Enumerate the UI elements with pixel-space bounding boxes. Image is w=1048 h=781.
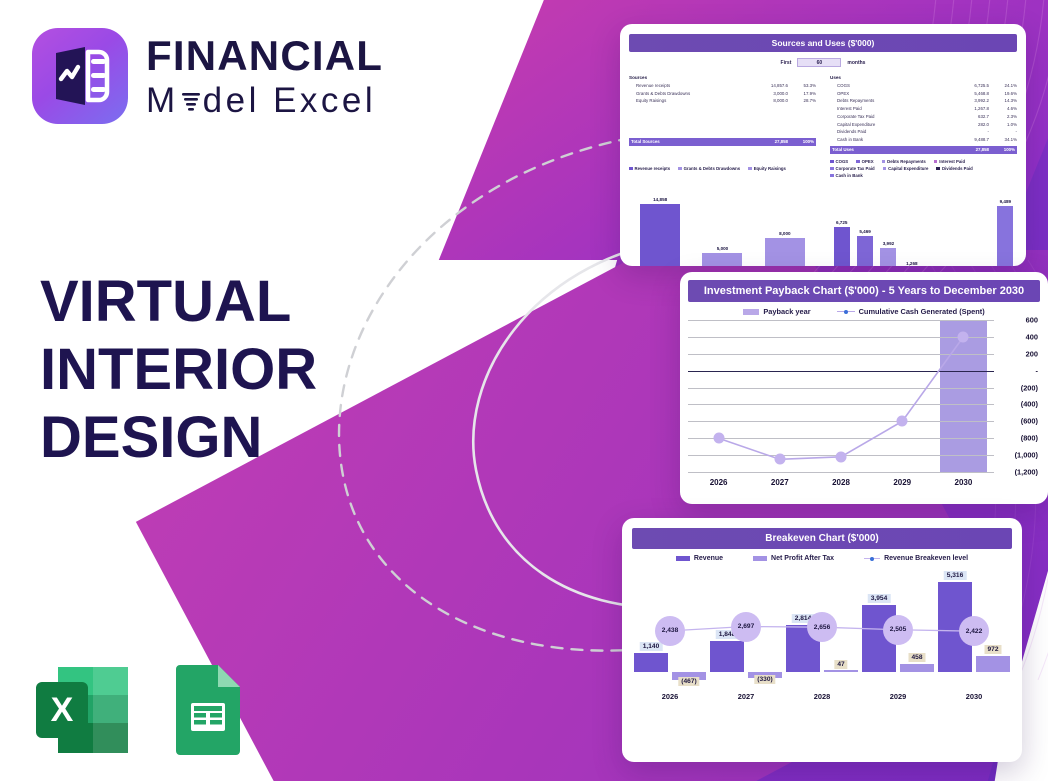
headline-line-2: INTERIOR [40,336,420,404]
uses-total-row: Total Uses 27,858 100% [830,146,1017,154]
legend-swatch-icon [743,309,759,315]
months-suffix-label: months [847,60,865,66]
sources-table-row: Equity Raisings8,000.028.7% [629,97,816,105]
bar [702,253,742,266]
sources-uses-charts: 14,8585,0008,000 6,7255,4693,9921,268633… [629,182,1017,266]
uses-table-row: Cash in Bank9,488.734.1% [830,136,1017,144]
legend-label: Revenue [694,555,723,562]
legend-item: Revenue Breakeven level [864,555,968,562]
bar-column: 0 [974,182,990,266]
card-breakeven: Breakeven Chart ($'000) RevenueNet Profi… [622,518,1022,762]
app-icons-group: X [28,661,246,759]
headline-line-3: DESIGN [40,404,420,472]
legend-label: Cash in Bank [836,173,863,178]
legend-swatch-icon [678,167,682,171]
legend-item: Corporate Tax Paid [830,166,875,171]
bar-column: 6,725 [834,182,850,266]
bar-value-label: 8,000 [779,231,791,236]
bar-column: 14,858 [640,182,680,266]
payback-chart-legend: Payback yearCumulative Cash Generated (S… [688,307,1040,316]
headline-line-1: VIRTUAL [40,268,420,336]
payback-plot-area: 600400200-(200)(400)(600)(800)(1,000)(1,… [688,320,1040,472]
legend-label: OPEX [862,159,874,164]
legend-item: Equity Raisings [748,159,786,178]
bar-value-label: 5,469 [859,229,871,234]
data-point-marker [836,451,847,462]
bar-value-label: 14,858 [653,197,667,202]
sources-total-amount: 27,858 [754,138,788,146]
months-selector-row: First 60 months [629,58,1017,67]
uses-chart-legend: COGSOPEXDebts RepaymentsInterest PaidCor… [830,159,1017,180]
data-point-marker [958,331,969,342]
breakeven-chart-legend: RevenueNet Profit After TaxRevenue Break… [632,555,1012,562]
bar [765,238,805,266]
y-axis-tick-label: 400 [1026,332,1038,341]
sources-bar-chart: 14,8585,0008,000 [629,182,816,266]
uses-table-row: Interest Paid1,267.84.6% [830,105,1017,113]
legend-label: Revenue receipts [635,166,671,171]
sources-total-row: Total Sources 27,858 100% [629,138,816,146]
legend-item: Revenue receipts [629,159,670,178]
legend-swatch-icon [748,167,752,171]
card-investment-payback: Investment Payback Chart ($'000) - 5 Yea… [680,272,1048,504]
sources-table-row: Grants & Debts Drawdowns3,000.017.9% [629,90,816,98]
legend-swatch-icon [882,160,886,164]
data-point-marker [897,416,908,427]
uses-table-row: Corporate Tax Paid632.72.3% [830,113,1017,121]
uses-table-row: COGS6,725.524.1% [830,82,1017,90]
payback-line-series [688,320,994,472]
breakeven-node: 2,422 [959,616,989,646]
legend-label: Corporate Tax Paid [836,166,875,171]
breakeven-node: 2,505 [883,615,913,645]
uses-total-label: Total Uses [830,146,955,154]
x-axis-tick-label: 2030 [933,478,994,487]
bar-value-label: 5,000 [717,246,729,251]
x-axis-tick-label: 2026 [688,478,749,487]
x-axis-tick-label: 2030 [936,692,1012,701]
legend-swatch-icon [753,556,767,561]
legend-item: Debts Repayments [882,159,926,164]
legend-swatch-icon [830,167,834,171]
bar-value-label: 6,725 [836,220,848,225]
poster-canvas: FINANCIAL M del Excel VIRTUAL INTERIOR D… [0,0,1048,781]
google-sheets-icon [166,661,246,759]
legend-swatch-icon [830,160,834,164]
legend-label: Dividends Paid [942,166,973,171]
legend-item: Net Profit After Tax [753,555,834,562]
x-axis-tick-label: 2029 [872,478,933,487]
gridline [688,472,994,473]
sources-uses-tables: Sources Revenue receipts14,857.653.3%Gra… [629,75,1017,154]
brand-title-line1: FINANCIAL [146,35,383,77]
sources-table-header: Sources [629,75,816,80]
legend-item: COGS [830,159,848,164]
bar-column: 9,489 [997,182,1013,266]
breakeven-node: 2,656 [807,612,837,642]
legend-label: Cumulative Cash Generated (Spent) [859,307,985,316]
card-breakeven-title: Breakeven Chart ($'000) [632,528,1012,549]
breakeven-node: 2,697 [731,612,761,642]
y-axis-tick-label: (1,000) [1015,451,1038,460]
sources-table: Sources Revenue receipts14,857.653.3%Gra… [629,75,816,154]
legend-label: Capital Expenditure [888,166,928,171]
financial-model-excel-logo-icon [32,28,128,124]
months-input[interactable]: 60 [797,58,841,67]
svg-text:X: X [51,691,74,729]
brand-title-line2: M del Excel [146,83,383,118]
legend-swatch-icon [629,167,633,171]
legend-item: Grants & Debts Drawdowns [678,159,740,178]
breakeven-x-axis: 20262027202820292030 [632,692,1012,701]
uses-table-row: Capital Expenditure282.01.0% [830,121,1017,129]
bar [857,236,873,266]
legend-label: Grants & Debts Drawdowns [684,166,741,171]
legend-label: Debts Repayments [887,159,926,164]
sources-total-pct: 100% [788,138,816,146]
legend-item: Capital Expenditure [883,166,929,171]
card-payback-title: Investment Payback Chart ($'000) - 5 Yea… [688,280,1040,302]
bar-column: 1,268 [904,182,920,266]
x-axis-tick-label: 2027 [749,478,810,487]
legend-item: Cash in Bank [830,173,863,178]
y-axis-tick-label: 200 [1026,349,1038,358]
card-sources-title: Sources and Uses ($'000) [629,34,1017,52]
y-axis-tick-label: (400) [1021,400,1038,409]
bar-column: 5,000 [702,182,742,266]
legend-label: Payback year [763,307,810,316]
uses-bar-chart: 6,7255,4693,9921,26863328209,489 [830,182,1017,266]
legend-item: Interest Paid [934,159,965,164]
legend-swatch-icon [883,167,887,171]
data-point-marker [774,454,785,465]
y-axis-tick-label: (600) [1021,417,1038,426]
y-axis-tick-label: (1,200) [1015,468,1038,477]
legend-line-icon [837,311,855,312]
legend-label: Net Profit After Tax [771,555,834,562]
bar [640,204,680,266]
x-axis-tick-label: 2026 [632,692,708,701]
x-axis-tick-label: 2029 [860,692,936,701]
uses-table-row: Dividends Paid-- [830,128,1017,136]
legend-swatch-icon [934,160,938,164]
sources-uses-legends: Revenue receiptsGrants & Debts Drawdowns… [629,159,1017,180]
payback-y-axis: 600400200-(200)(400)(600)(800)(1,000)(1,… [994,320,1040,472]
sources-chart-legend: Revenue receiptsGrants & Debts Drawdowns… [629,159,816,180]
uses-table: Uses COGS6,725.524.1%OPEX5,468.819.6%Deb… [830,75,1017,154]
uses-table-row: OPEX5,468.819.6% [830,90,1017,98]
legend-item: OPEX [856,159,873,164]
legend-item: Dividends Paid [936,166,972,171]
bar [997,206,1013,266]
sources-table-row: Revenue receipts14,857.653.3% [629,82,816,90]
legend-label: Interest Paid [939,159,965,164]
legend-item: Payback year [743,307,810,316]
data-point-marker [713,433,724,444]
payback-x-axis: 20262027202820292030 [688,478,1040,487]
sources-total-label: Total Sources [629,138,754,146]
bar-column: 633 [927,182,943,266]
bar-value-label: 3,992 [883,241,895,246]
uses-table-header: Uses [830,75,1017,80]
bar-column: 3,992 [880,182,896,266]
legend-label: Equity Raisings [754,166,786,171]
breakeven-node: 2,438 [655,616,685,646]
legend-label: COGS [836,159,849,164]
legend-swatch-icon [676,556,690,561]
y-axis-tick-label: 600 [1026,316,1038,325]
bar [834,227,850,266]
logo-o-stack-icon [179,85,203,115]
legend-item: Revenue [676,555,723,562]
legend-line-icon [864,558,880,559]
legend-swatch-icon [936,167,940,171]
y-axis-tick-label: (200) [1021,383,1038,392]
legend-item: Cumulative Cash Generated (Spent) [837,307,985,316]
microsoft-excel-icon: X [28,661,136,759]
x-axis-tick-label: 2028 [784,692,860,701]
legend-swatch-icon [856,160,860,164]
breakeven-plot-area: 1,140(467)1,848(330)2,814473,9544585,316… [632,574,1012,684]
y-axis-tick-label: (800) [1021,434,1038,443]
legend-swatch-icon [830,174,834,178]
legend-label: Revenue Breakeven level [884,555,968,562]
bar-column: 8,000 [765,182,805,266]
uses-total-pct: 100% [989,146,1017,154]
brand-title-line2-pre: M [146,83,179,118]
card-sources-and-uses: Sources and Uses ($'000) First 60 months… [620,24,1026,266]
x-axis-tick-label: 2027 [708,692,784,701]
bar-column: 282 [951,182,967,266]
bar-value-label: 1,268 [906,261,918,266]
brand-logo: FINANCIAL M del Excel [32,28,383,124]
x-axis-tick-label: 2028 [810,478,871,487]
bar-column: 5,469 [857,182,873,266]
uses-total-amount: 27,858 [955,146,989,154]
months-prefix-label: First [781,60,792,66]
brand-title-line2-post: del Excel [203,83,377,118]
uses-table-row: Debts Repayments3,992.214.3% [830,97,1017,105]
payback-canvas [688,320,994,472]
page-title: VIRTUAL INTERIOR DESIGN [40,268,420,472]
bar [880,248,896,266]
y-axis-tick-label: - [1036,366,1038,375]
bar-value-label: 9,489 [1000,199,1012,204]
